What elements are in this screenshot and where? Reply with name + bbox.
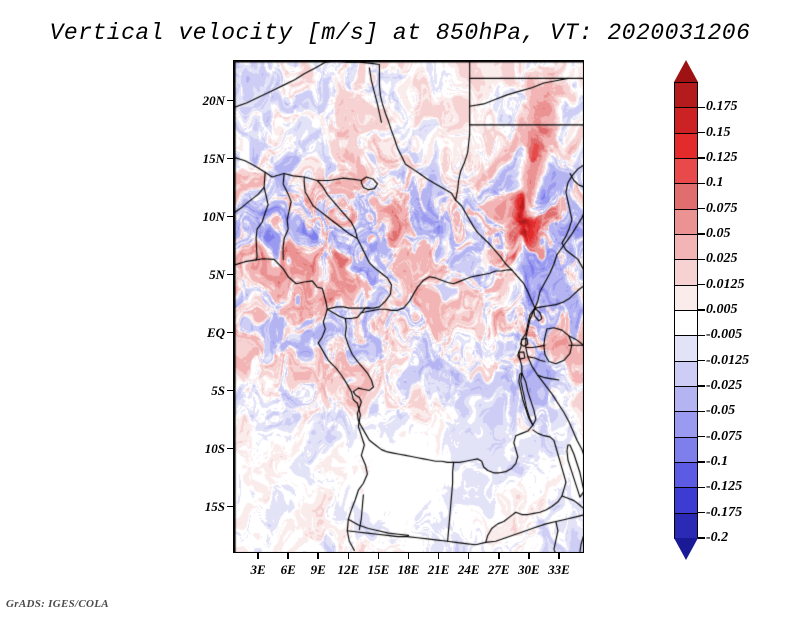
colorbar-top-arrow xyxy=(674,60,698,82)
colorbar-tick-label: -0.0125 xyxy=(706,353,749,369)
colorbar-tick-label: 0.1 xyxy=(706,175,724,191)
colorbar-tick-mark xyxy=(698,259,705,261)
x-axis-tick-label: 21E xyxy=(428,562,450,578)
colorbar-swatch xyxy=(674,361,698,388)
colorbar-tick-mark xyxy=(698,512,705,514)
x-axis-tick-label: 12E xyxy=(337,562,359,578)
y-axis-tick-mark xyxy=(227,158,233,160)
colorbar-tick-mark xyxy=(698,284,705,286)
colorbar-swatch xyxy=(674,259,698,286)
colorbar-swatch xyxy=(674,335,698,362)
colorbar-swatch xyxy=(674,487,698,514)
colorbar-tick-label: 0.075 xyxy=(706,201,738,217)
x-axis-tick-mark xyxy=(317,553,319,559)
colorbar-tick-label: 0.05 xyxy=(706,226,731,242)
colorbar-tick-label: 0.125 xyxy=(706,150,738,166)
colorbar-tick-mark xyxy=(698,385,705,387)
colorbar-tick-label: -0.005 xyxy=(706,327,742,343)
colorbar-swatch xyxy=(674,437,698,464)
x-axis-tick-mark xyxy=(558,553,560,559)
colorbar-swatch xyxy=(674,462,698,489)
x-axis-tick-label: 33E xyxy=(548,562,570,578)
colorbar-swatch xyxy=(674,107,698,134)
y-axis-tick-label: 15N xyxy=(187,151,225,167)
y-axis-tick-label: 20N xyxy=(187,93,225,109)
map-plot-frame xyxy=(233,60,584,553)
y-axis-tick-mark xyxy=(227,332,233,334)
colorbar-tick-mark xyxy=(698,107,705,109)
y-axis-tick-label: EQ xyxy=(187,325,225,341)
x-axis-tick-mark xyxy=(257,553,259,559)
colorbar-tick-label: -0.125 xyxy=(706,479,742,495)
colorbar-swatch xyxy=(674,285,698,312)
colorbar-tick-mark xyxy=(698,487,705,489)
x-axis-tick-label: 3E xyxy=(250,562,265,578)
colorbar-tick-mark xyxy=(698,309,705,311)
colorbar-tick-label: -0.1 xyxy=(706,454,728,470)
y-axis-tick-mark xyxy=(227,274,233,276)
colorbar-tick-mark xyxy=(698,411,705,413)
colorbar-tick-mark xyxy=(698,132,705,134)
colorbar-swatch xyxy=(674,411,698,438)
x-axis-tick-label: 9E xyxy=(311,562,326,578)
x-axis-tick-label: 15E xyxy=(368,562,390,578)
attribution-label: GrADS: IGES/COLA xyxy=(6,598,109,610)
colorbar-tick-mark xyxy=(698,537,705,539)
colorbar-tick-label: -0.075 xyxy=(706,429,742,445)
colorbar-swatch xyxy=(674,513,698,540)
y-axis-tick-label: 10N xyxy=(187,209,225,225)
x-axis-tick-label: 27E xyxy=(488,562,510,578)
y-axis-tick-label: 15S xyxy=(187,499,225,515)
colorbar-tick-mark xyxy=(698,335,705,337)
colorbar-tick-label: 0.15 xyxy=(706,125,731,141)
colorbar-tick-mark xyxy=(698,436,705,438)
x-axis-tick-mark xyxy=(378,553,380,559)
colorbar-swatch xyxy=(674,386,698,413)
y-axis-tick-label: 10S xyxy=(187,441,225,457)
country-borders-overlay xyxy=(234,61,584,553)
y-axis-tick-label: 5S xyxy=(187,383,225,399)
x-axis-tick-label: 24E xyxy=(458,562,480,578)
y-axis-tick-mark xyxy=(227,448,233,450)
colorbar-tick-mark xyxy=(698,461,705,463)
colorbar-swatch xyxy=(674,310,698,337)
colorbar xyxy=(674,60,698,560)
colorbar-tick-mark xyxy=(698,157,705,159)
colorbar-tick-mark xyxy=(698,360,705,362)
colorbar-swatch xyxy=(674,234,698,261)
grads-plot-page: Vertical velocity [m/s] at 850hPa, VT: 2… xyxy=(0,0,800,618)
y-axis-tick-mark xyxy=(227,216,233,218)
colorbar-tick-label: 0.175 xyxy=(706,99,738,115)
colorbar-tick-label: -0.2 xyxy=(706,530,728,546)
colorbar-swatch xyxy=(674,158,698,185)
colorbar-tick-label: -0.025 xyxy=(706,378,742,394)
y-axis-tick-mark xyxy=(227,100,233,102)
colorbar-swatch xyxy=(674,183,698,210)
x-axis-tick-label: 18E xyxy=(398,562,420,578)
y-axis-tick-mark xyxy=(227,506,233,508)
colorbar-tick-label: -0.175 xyxy=(706,505,742,521)
colorbar-swatch xyxy=(674,209,698,236)
x-axis-tick-label: 30E xyxy=(518,562,540,578)
colorbar-tick-label: 0.025 xyxy=(706,251,738,267)
colorbar-tick-mark xyxy=(698,208,705,210)
x-axis-tick-mark xyxy=(438,553,440,559)
colorbar-swatch xyxy=(674,82,698,109)
colorbar-swatch xyxy=(674,133,698,160)
colorbar-tick-mark xyxy=(698,233,705,235)
colorbar-tick-mark xyxy=(698,183,705,185)
x-axis-tick-mark xyxy=(468,553,470,559)
colorbar-tick-label: 0.0125 xyxy=(706,277,745,293)
y-axis-tick-mark xyxy=(227,390,233,392)
page-title: Vertical velocity [m/s] at 850hPa, VT: 2… xyxy=(0,20,800,46)
y-axis-tick-label: 5N xyxy=(187,267,225,283)
x-axis-tick-mark xyxy=(528,553,530,559)
x-axis-tick-mark xyxy=(348,553,350,559)
x-axis-tick-label: 6E xyxy=(281,562,296,578)
colorbar-tick-label: 0.005 xyxy=(706,302,738,318)
x-axis-tick-mark xyxy=(498,553,500,559)
x-axis-tick-mark xyxy=(287,553,289,559)
colorbar-tick-label: -0.05 xyxy=(706,403,735,419)
colorbar-bottom-arrow xyxy=(674,538,698,560)
x-axis-tick-mark xyxy=(408,553,410,559)
